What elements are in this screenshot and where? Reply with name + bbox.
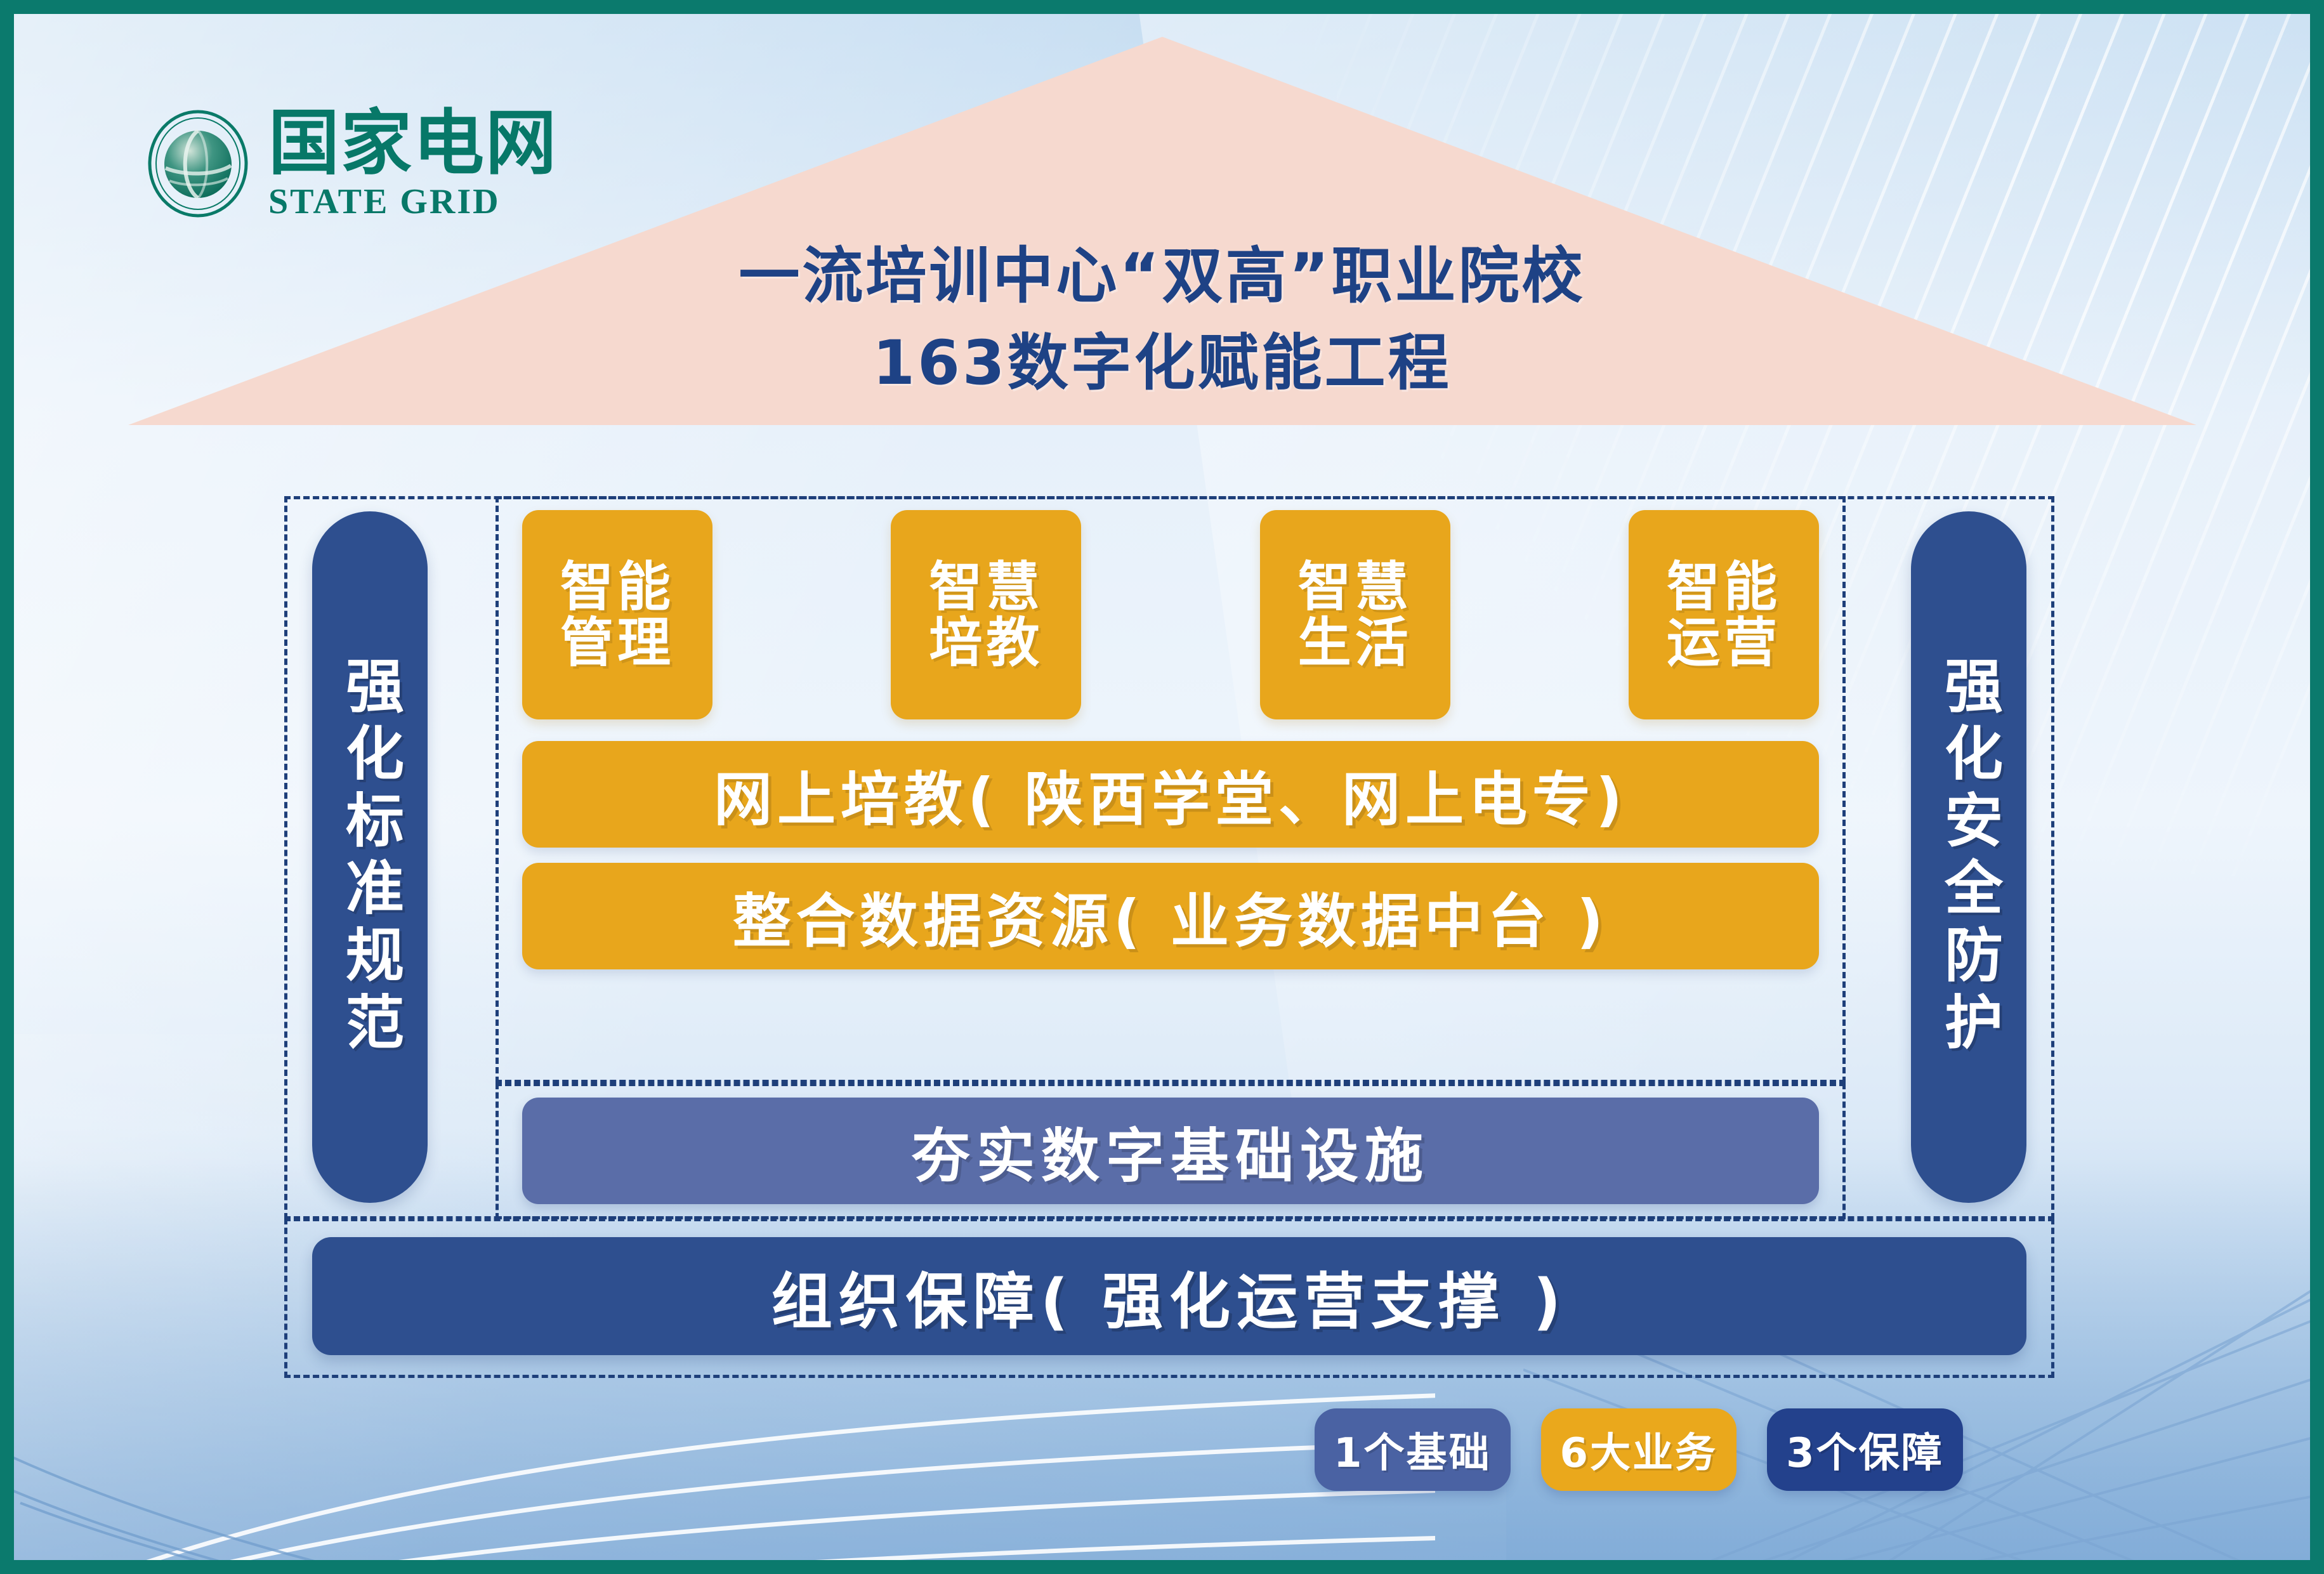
card-smart-life[interactable]: 智慧 生活 — [1260, 510, 1450, 719]
pillar-security-label: 强化安全防护 — [1927, 655, 2011, 1059]
bar-online-training[interactable]: 网上培教( 陕西学堂、网上电专) — [522, 741, 1819, 848]
legend-six-businesses-label: 6大业务 — [1560, 1420, 1718, 1479]
logo-cn-text: 国家电网 — [268, 108, 558, 179]
framework-diagram: 强化标准规范 强化安全防护 智能 管理 智慧 培教 智慧 生活 智能 运营 — [284, 496, 2054, 1378]
legend-six-businesses[interactable]: 6大业务 — [1541, 1408, 1737, 1491]
card-smart-operations-label: 智能 运营 — [1667, 559, 1781, 671]
bar-data-resources-label: 整合数据资源( 业务数据中台 ) — [733, 874, 1608, 959]
logo-en-text: STATE GRID — [268, 184, 558, 220]
legend-three-guarantees[interactable]: 3个保障 — [1767, 1408, 1963, 1491]
legend-three-guarantees-label: 3个保障 — [1786, 1420, 1944, 1479]
legend-row: 1个基础 6大业务 3个保障 — [1315, 1408, 1963, 1491]
legend-one-foundation-label: 1个基础 — [1334, 1420, 1492, 1479]
card-smart-management-label: 智能 管理 — [560, 559, 674, 671]
page-title: 一流培训中心“双高”职业院校 163数字化赋能工程 — [14, 239, 2310, 400]
title-line-1: 一流培训中心“双高”职业院校 — [14, 239, 2310, 313]
bar-data-resources[interactable]: 整合数据资源( 业务数据中台 ) — [522, 863, 1819, 969]
bar-digital-infrastructure[interactable]: 夯实数字基础设施 — [522, 1098, 1819, 1204]
bar-organization-guarantee[interactable]: 组织保障( 强化运营支撑 ) — [312, 1237, 2026, 1355]
poster-canvas: 国家电网 STATE GRID 一流培训中心“双高”职业院校 163数字化赋能工… — [14, 14, 2310, 1560]
state-grid-logo: 国家电网 STATE GRID — [144, 108, 558, 220]
pillar-security[interactable]: 强化安全防护 — [1911, 511, 2026, 1203]
pillar-standards-label: 强化标准规范 — [328, 655, 412, 1059]
card-smart-training[interactable]: 智慧 培教 — [891, 510, 1081, 719]
bar-online-training-label: 网上培教( 陕西学堂、网上电专) — [714, 752, 1627, 837]
business-cards-row: 智能 管理 智慧 培教 智慧 生活 智能 运营 — [522, 510, 1819, 719]
card-smart-life-label: 智慧 生活 — [1298, 559, 1412, 671]
bar-organization-guarantee-label: 组织保障( 强化运营支撑 ) — [771, 1252, 1568, 1341]
legend-one-foundation[interactable]: 1个基础 — [1315, 1408, 1511, 1491]
card-smart-operations[interactable]: 智能 运营 — [1629, 510, 1819, 719]
pillar-standards[interactable]: 强化标准规范 — [312, 511, 428, 1203]
bar-digital-infrastructure-label: 夯实数字基础设施 — [912, 1109, 1429, 1193]
card-smart-management[interactable]: 智能 管理 — [522, 510, 712, 719]
state-grid-globe-emblem — [144, 110, 252, 218]
card-smart-training-label: 智慧 培教 — [929, 559, 1043, 671]
title-line-2: 163数字化赋能工程 — [14, 326, 2310, 400]
poster-frame: 国家电网 STATE GRID 一流培训中心“双高”职业院校 163数字化赋能工… — [0, 0, 2324, 1574]
